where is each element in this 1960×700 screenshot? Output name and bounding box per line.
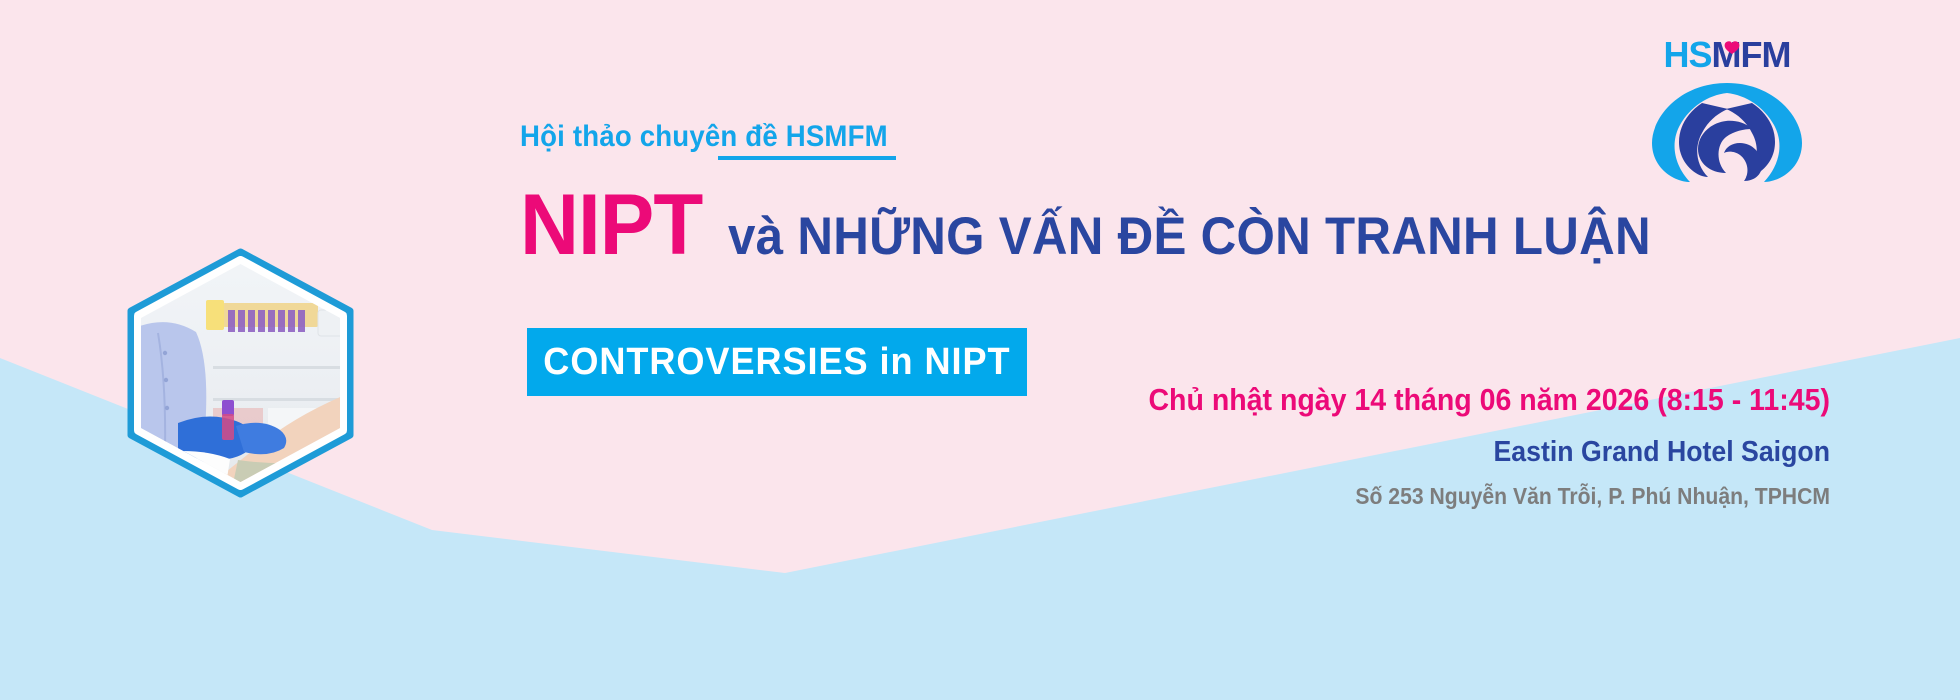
title-highlight: NIPT (520, 182, 702, 268)
event-venue-name: Eastin Grand Hotel Saigon (1076, 436, 1830, 469)
event-venue-address: Số 253 Nguyễn Văn Trỗi, P. Phú Nhuận, TP… (1076, 483, 1830, 510)
event-details: Chủ nhật ngày 14 tháng 06 năm 2026 (8:15… (1010, 382, 1830, 510)
logo-wordmark: HSMFM (1664, 34, 1791, 75)
hsmfm-logo-svg: HSMFM (1640, 25, 1815, 185)
photo-hexagon (118, 248, 363, 498)
english-title-box: CONTROVERSIES in NIPT (527, 328, 1027, 396)
kicker-underline (718, 156, 896, 160)
photo-hexagon-svg (118, 248, 363, 498)
event-date: Chủ nhật ngày 14 tháng 06 năm 2026 (8:15… (1076, 382, 1830, 418)
title-rest: và NHỮNG VẤN ĐỀ CÒN TRANH LUẬN (728, 210, 1651, 263)
banner-kicker: Hội thảo chuyên đề HSMFM (520, 120, 888, 154)
banner-title: NIPT và NHỮNG VẤN ĐỀ CÒN TRANH LUẬN (520, 182, 1720, 268)
english-title-label: CONTROVERSIES in NIPT (543, 341, 1010, 384)
photo-content (118, 248, 363, 498)
hsmfm-logo: HSMFM (1640, 25, 1815, 185)
event-banner: HSMFM Hội thảo chuyên đề HSMFM NIPT và N… (0, 0, 1960, 700)
logo-emblem (1652, 83, 1802, 182)
